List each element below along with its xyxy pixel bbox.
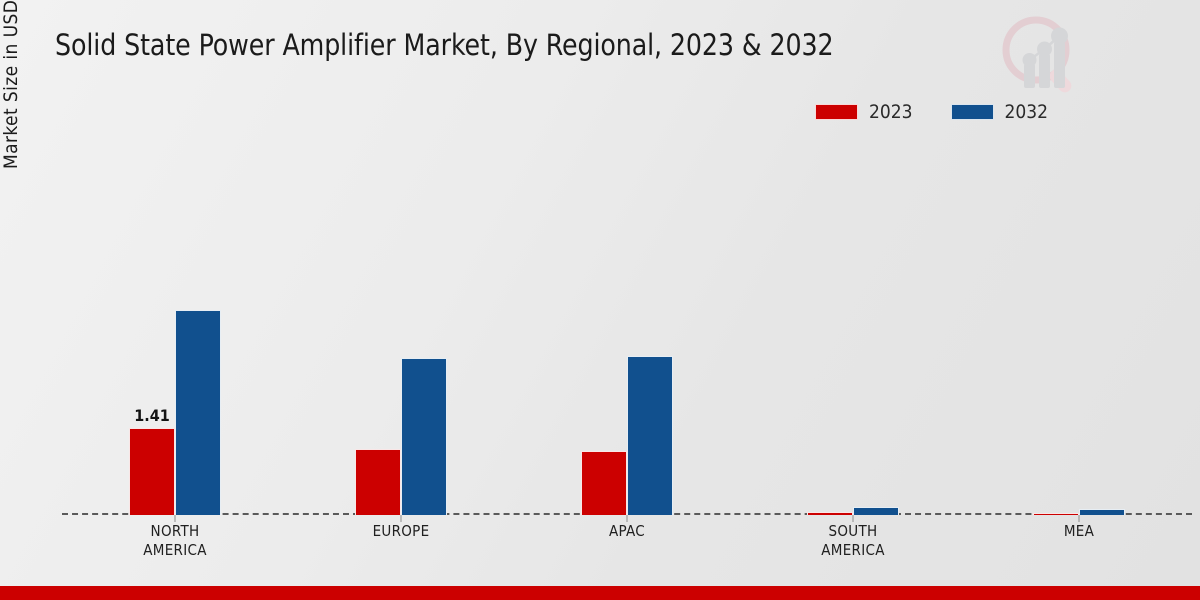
- x-axis-label-line-1: MEA: [1064, 522, 1094, 540]
- x-axis-tick: [627, 515, 628, 522]
- bar-2023-apac[interactable]: [581, 451, 627, 515]
- x-axis-label-line-1: SOUTH: [829, 522, 878, 540]
- x-axis-tick: [401, 515, 402, 522]
- legend-swatch-icon: [951, 104, 994, 120]
- bar-group-north-america: 1.41 NORTH AMERICA: [62, 140, 288, 515]
- legend-item-2023[interactable]: 2023: [815, 101, 913, 123]
- bar-2032-south-america[interactable]: [853, 507, 899, 515]
- chart-legend: 2023 2032: [815, 101, 1048, 123]
- x-axis-label-line-1: APAC: [609, 522, 645, 540]
- legend-label-2023: 2023: [869, 101, 913, 123]
- legend-item-2032[interactable]: 2032: [951, 101, 1049, 123]
- x-axis-label-line-1: EUROPE: [373, 522, 430, 540]
- bar-2032-europe[interactable]: [401, 358, 447, 515]
- x-axis-label-line-2: AMERICA: [143, 541, 207, 559]
- x-axis-label-mea: MEA: [1064, 522, 1094, 541]
- bar-group-south-america: SOUTH AMERICA: [740, 140, 966, 515]
- bar-2032-north-america[interactable]: [175, 310, 221, 515]
- x-axis-label-apac: APAC: [609, 522, 645, 541]
- bar-group-europe: EUROPE: [288, 140, 514, 515]
- bar-value-label: 1.41: [134, 406, 170, 425]
- x-axis-tick: [175, 515, 176, 522]
- chart-container: Solid State Power Amplifier Market, By R…: [0, 0, 1200, 600]
- x-axis-tick: [853, 515, 854, 522]
- magnifier-bar-chart-logo-icon: [992, 8, 1088, 104]
- x-axis-label-line-1: NORTH: [151, 522, 200, 540]
- bar-2023-europe[interactable]: [355, 449, 401, 515]
- plot-area: 1.41 NORTH AMERICA EUROPE: [62, 140, 1192, 515]
- x-axis-tick: [1079, 515, 1080, 522]
- bar-2032-mea[interactable]: [1079, 509, 1125, 515]
- bar-2023-south-america[interactable]: [807, 512, 853, 515]
- footer-accent-bar: [0, 586, 1200, 600]
- chart-title: Solid State Power Amplifier Market, By R…: [55, 28, 833, 62]
- bar-group-mea: MEA: [966, 140, 1192, 515]
- bar-2023-north-america[interactable]: 1.41: [129, 428, 175, 515]
- x-axis-label-europe: EUROPE: [373, 522, 430, 541]
- x-axis-label-line-2: AMERICA: [821, 541, 885, 559]
- y-axis-title: Market Size in USD Billion: [0, 0, 34, 224]
- legend-label-2032: 2032: [1005, 101, 1049, 123]
- bar-2032-apac[interactable]: [627, 356, 673, 515]
- bar-2023-mea[interactable]: [1033, 513, 1079, 515]
- legend-swatch-icon: [815, 104, 858, 120]
- x-axis-label-north-america: NORTH AMERICA: [143, 522, 207, 560]
- x-axis-label-south-america: SOUTH AMERICA: [821, 522, 885, 560]
- bar-group-apac: APAC: [514, 140, 740, 515]
